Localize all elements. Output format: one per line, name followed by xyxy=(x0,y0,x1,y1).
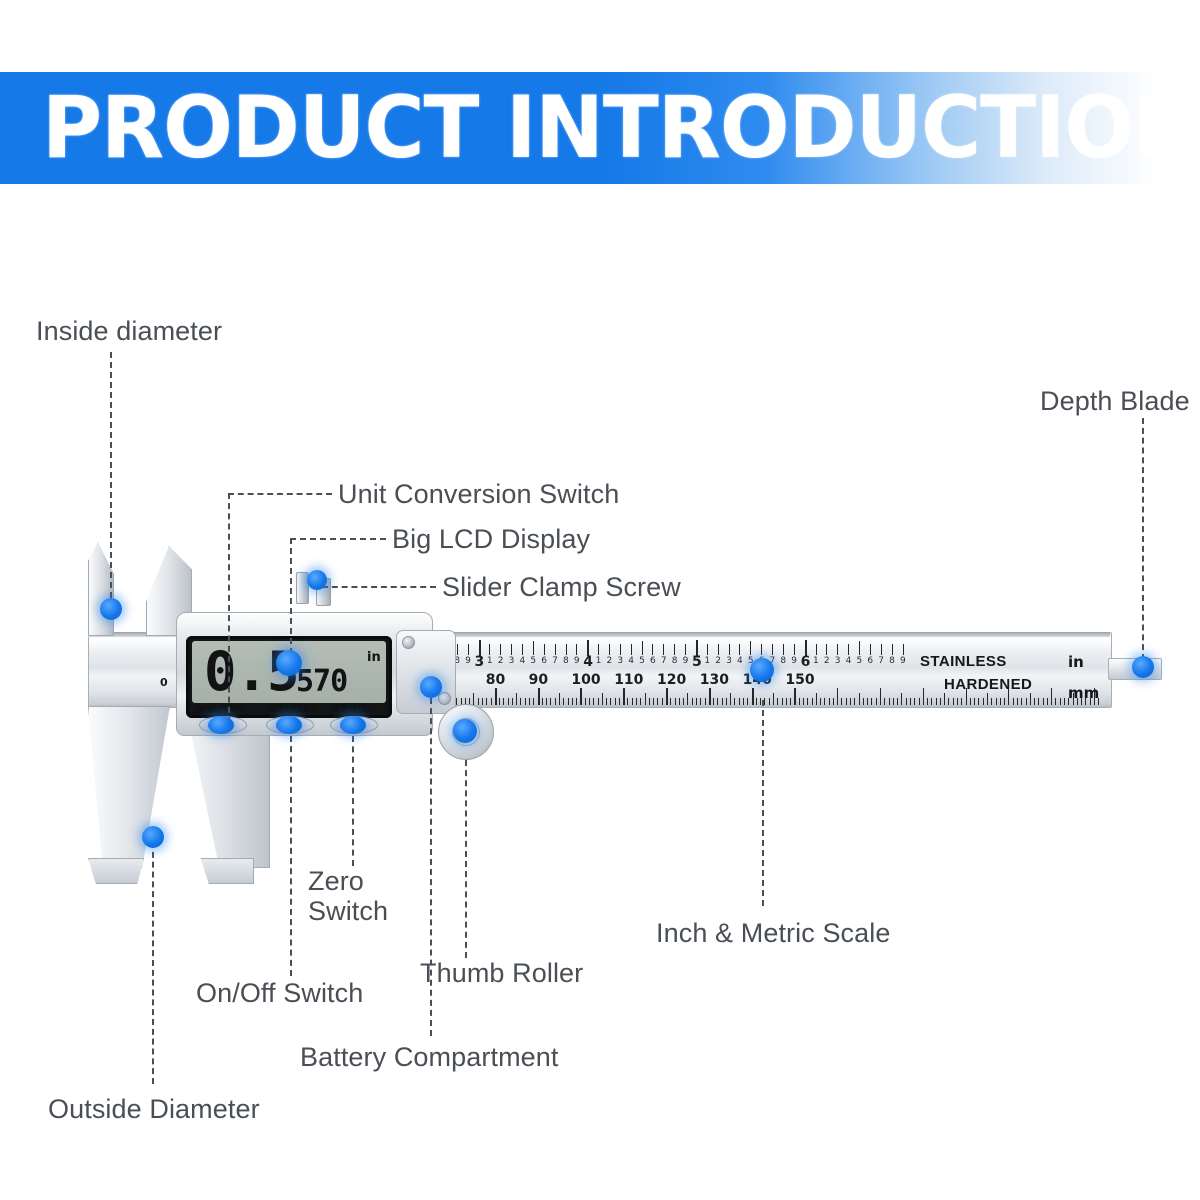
metric-number: 90 xyxy=(529,672,548,688)
metric-tick xyxy=(919,698,920,705)
label-zero-switch-line2: Switch xyxy=(308,896,388,928)
metric-tick xyxy=(520,698,521,705)
metric-tick xyxy=(670,698,671,705)
label-slider-clamp-screw: Slider Clamp Screw xyxy=(442,572,681,604)
metric-tick xyxy=(478,698,479,705)
label-on-off-switch: On/Off Switch xyxy=(196,978,363,1010)
inch-minor-tick xyxy=(468,644,469,655)
metric-tick xyxy=(1030,693,1031,705)
inch-minor-tick xyxy=(707,644,708,655)
metric-tick xyxy=(987,693,988,705)
metric-tick xyxy=(824,698,825,705)
label-inch-metric-scale: Inch & Metric Scale xyxy=(656,918,891,950)
metric-tick xyxy=(555,698,556,705)
metric-tick xyxy=(812,698,813,705)
marker-battery-compartment xyxy=(420,676,442,698)
metric-tick xyxy=(966,688,967,705)
metric-tick xyxy=(944,693,945,705)
inch-subdivision-number: 8 xyxy=(889,656,895,666)
metric-tick xyxy=(559,693,560,705)
metric-tick xyxy=(764,698,765,705)
inch-minor-tick xyxy=(718,644,719,655)
inch-subdivision-number: 3 xyxy=(509,656,515,666)
inch-unit-label: in xyxy=(1068,653,1084,671)
inch-minor-tick xyxy=(903,644,904,655)
inch-subdivision-number: 5 xyxy=(639,656,645,666)
metric-tick xyxy=(696,698,697,705)
inch-minor-tick xyxy=(674,644,675,655)
metric-tick xyxy=(593,698,594,705)
metric-tick xyxy=(970,698,971,705)
metric-tick xyxy=(747,698,748,705)
metric-tick xyxy=(1055,698,1056,705)
sliding-jaw-tip xyxy=(196,858,254,884)
metric-tick xyxy=(978,698,979,705)
metric-tick xyxy=(794,688,795,705)
inch-subdivision-number: 3 xyxy=(835,656,841,666)
metric-tick xyxy=(512,698,513,705)
inch-number: 4 xyxy=(583,654,593,670)
metric-tick xyxy=(482,698,483,705)
metric-tick xyxy=(936,698,937,705)
metric-tick xyxy=(585,698,586,705)
battery-screw-top xyxy=(402,636,415,649)
metric-tick xyxy=(820,698,821,705)
inch-subdivision-number: 8 xyxy=(563,656,569,666)
marker-inside-diameter xyxy=(100,598,122,620)
metric-tick xyxy=(807,698,808,705)
leader-slider-clamp-h xyxy=(322,586,436,588)
inch-subdivision-number: 7 xyxy=(552,656,558,666)
metric-tick xyxy=(687,693,688,705)
inch-minor-tick xyxy=(555,644,556,655)
metric-number: 120 xyxy=(657,672,686,688)
inch-minor-tick xyxy=(533,641,534,655)
inch-minor-tick xyxy=(837,644,838,655)
page-title: PRODUCT INTRODUCTION xyxy=(42,76,1166,180)
metric-tick xyxy=(700,698,701,705)
label-outside-diameter: Outside Diameter xyxy=(48,1094,260,1126)
inch-subdivision-number: 9 xyxy=(683,656,689,666)
metric-tick xyxy=(653,698,654,705)
metric-tick xyxy=(734,698,735,705)
metric-tick xyxy=(1064,698,1065,705)
metric-unit-label: mm xyxy=(1068,684,1099,702)
lcd-sub-value: 570 xyxy=(296,664,347,699)
inch-minor-tick xyxy=(729,644,730,655)
marker-outside-diameter xyxy=(142,826,164,848)
marker-zero xyxy=(340,716,366,734)
metric-tick xyxy=(931,698,932,705)
inch-minor-tick xyxy=(620,644,621,655)
metric-tick xyxy=(1013,698,1014,705)
leader-inch-metric-scale xyxy=(762,700,764,906)
metric-tick xyxy=(568,698,569,705)
inch-minor-tick xyxy=(500,644,501,655)
inch-minor-tick xyxy=(522,644,523,655)
metric-tick xyxy=(1051,688,1052,705)
metric-tick xyxy=(1026,698,1027,705)
metric-tick xyxy=(640,698,641,705)
metric-tick xyxy=(529,698,530,705)
metric-tick xyxy=(910,698,911,705)
metric-tick xyxy=(991,698,992,705)
slider-zero-mark: 0 xyxy=(160,676,168,689)
metric-tick xyxy=(884,698,885,705)
metric-tick xyxy=(773,693,774,705)
metric-tick xyxy=(829,698,830,705)
metric-tick xyxy=(491,698,492,705)
inch-subdivision-number: 4 xyxy=(737,656,743,666)
inch-subdivision-number: 6 xyxy=(650,656,656,666)
leader-unit-conversion-h xyxy=(228,493,332,495)
metric-tick xyxy=(726,698,727,705)
metric-tick xyxy=(645,693,646,705)
metric-tick xyxy=(615,698,616,705)
inch-number: 5 xyxy=(692,654,702,670)
marker-slider-clamp-screw xyxy=(307,570,327,590)
metric-tick xyxy=(627,698,628,705)
metric-tick xyxy=(859,693,860,705)
inch-minor-tick xyxy=(761,644,762,655)
metric-tick xyxy=(996,698,997,705)
inch-minor-tick xyxy=(881,644,882,655)
inch-minor-tick xyxy=(772,644,773,655)
metric-tick xyxy=(679,698,680,705)
metric-tick xyxy=(486,698,487,705)
metric-tick xyxy=(657,698,658,705)
metric-tick xyxy=(837,688,838,705)
inch-minor-tick xyxy=(544,644,545,655)
button-label-on-off: ON/OFF xyxy=(270,702,318,715)
metric-tick xyxy=(867,698,868,705)
engraving-stainless: STAINLESS xyxy=(920,653,1007,670)
inch-minor-tick xyxy=(859,641,860,655)
inch-subdivision-number: 2 xyxy=(715,656,721,666)
leader-zero-switch xyxy=(352,736,354,866)
metric-tick xyxy=(1017,698,1018,705)
inch-subdivision-number: 7 xyxy=(661,656,667,666)
metric-tick xyxy=(901,693,902,705)
inch-minor-tick xyxy=(870,644,871,655)
metric-tick xyxy=(666,688,667,705)
metric-tick xyxy=(974,698,975,705)
inch-minor-tick xyxy=(685,644,686,655)
label-inside-diameter: Inside diameter xyxy=(36,316,222,348)
metric-tick xyxy=(705,698,706,705)
inch-minor-tick xyxy=(750,641,751,655)
metric-tick xyxy=(769,698,770,705)
inch-subdivision-number: 2 xyxy=(606,656,612,666)
metric-tick xyxy=(948,698,949,705)
metric-tick xyxy=(580,688,581,705)
metric-tick xyxy=(610,698,611,705)
marker-on-off xyxy=(276,716,302,734)
inch-minor-tick xyxy=(892,644,893,655)
marker-inch-metric-scale xyxy=(750,658,774,682)
inch-subdivision-number: 7 xyxy=(878,656,884,666)
metric-number: 80 xyxy=(486,672,505,688)
metric-tick xyxy=(906,698,907,705)
metric-tick xyxy=(675,698,676,705)
inch-subdivision-number: 2 xyxy=(824,656,830,666)
metric-tick xyxy=(914,698,915,705)
metric-tick xyxy=(760,698,761,705)
inch-minor-tick xyxy=(457,644,458,655)
metric-tick xyxy=(803,698,804,705)
metric-tick xyxy=(709,688,710,705)
metric-tick xyxy=(756,698,757,705)
metric-tick xyxy=(871,698,872,705)
inch-minor-tick xyxy=(783,644,784,655)
fixed-jaw-tip xyxy=(88,858,144,884)
metric-tick xyxy=(606,698,607,705)
metric-tick xyxy=(854,698,855,705)
metric-tick xyxy=(786,698,787,705)
marker-thumb-roller xyxy=(453,719,477,743)
inch-minor-tick xyxy=(826,644,827,655)
label-unit-conversion-switch: Unit Conversion Switch xyxy=(338,479,619,511)
metric-tick xyxy=(576,698,577,705)
inch-subdivision-number: 4 xyxy=(628,656,634,666)
metric-tick xyxy=(730,693,731,705)
metric-tick xyxy=(1038,698,1039,705)
metric-tick xyxy=(1047,698,1048,705)
inch-subdivision-number: 9 xyxy=(900,656,906,666)
inch-minor-tick xyxy=(576,644,577,655)
metric-tick xyxy=(923,688,924,705)
metric-tick xyxy=(961,698,962,705)
metric-tick xyxy=(683,698,684,705)
leader-big-lcd-v xyxy=(290,538,292,664)
metric-tick xyxy=(649,698,650,705)
metric-tick xyxy=(880,688,881,705)
inch-minor-tick xyxy=(739,644,740,655)
metric-tick xyxy=(893,698,894,705)
metric-tick xyxy=(897,698,898,705)
metric-tick xyxy=(550,698,551,705)
inch-subdivision-number: 2 xyxy=(498,656,504,666)
metric-tick xyxy=(1060,698,1061,705)
metric-tick xyxy=(889,698,890,705)
inch-minor-tick xyxy=(609,644,610,655)
metric-tick xyxy=(1004,698,1005,705)
label-zero-switch-line1: Zero xyxy=(308,866,364,898)
inch-minor-tick xyxy=(631,644,632,655)
metric-tick xyxy=(743,698,744,705)
inch-minor-tick xyxy=(794,644,795,655)
metric-tick xyxy=(692,698,693,705)
inch-number: 6 xyxy=(801,654,811,670)
metric-tick xyxy=(456,698,457,705)
leader-unit-conversion-v xyxy=(228,493,230,723)
metric-tick xyxy=(752,688,753,705)
metric-tick xyxy=(495,688,496,705)
metric-tick xyxy=(782,698,783,705)
marker-unit-conversion xyxy=(208,716,234,734)
metric-tick xyxy=(863,698,864,705)
inch-minor-tick xyxy=(489,644,490,655)
metric-tick xyxy=(790,698,791,705)
label-thumb-roller: Thumb Roller xyxy=(420,958,583,990)
metric-tick xyxy=(953,698,954,705)
metric-tick xyxy=(739,698,740,705)
inch-subdivision-number: 1 xyxy=(813,656,819,666)
inch-subdivision-number: 8 xyxy=(780,656,786,666)
inch-subdivision-number: 1 xyxy=(596,656,602,666)
metric-tick xyxy=(632,698,633,705)
metric-tick xyxy=(722,698,723,705)
metric-tick xyxy=(1043,698,1044,705)
inch-subdivision-number: 1 xyxy=(704,656,710,666)
inch-minor-tick xyxy=(848,644,849,655)
metric-tick xyxy=(533,698,534,705)
inch-subdivision-number: 3 xyxy=(617,656,623,666)
metric-tick xyxy=(572,698,573,705)
metric-tick xyxy=(546,698,547,705)
leader-big-lcd-h xyxy=(290,538,386,540)
marker-big-lcd xyxy=(276,650,302,676)
inch-subdivision-number: 4 xyxy=(520,656,526,666)
metric-tick xyxy=(816,693,817,705)
metric-tick xyxy=(662,698,663,705)
leader-on-off-switch xyxy=(290,736,292,976)
inch-minor-tick xyxy=(566,644,567,655)
metric-tick xyxy=(602,693,603,705)
inch-minor-tick xyxy=(511,644,512,655)
battery-screw-bottom xyxy=(438,692,451,705)
metric-tick xyxy=(473,693,474,705)
lcd-unit-label: in xyxy=(367,650,381,665)
inch-minor-tick xyxy=(642,641,643,655)
inch-subdivision-number: 6 xyxy=(541,656,547,666)
metric-tick xyxy=(833,698,834,705)
inch-subdivision-number: 9 xyxy=(791,656,797,666)
metric-tick xyxy=(525,698,526,705)
inch-subdivision-number: 5 xyxy=(530,656,536,666)
marker-depth-blade xyxy=(1132,656,1154,678)
leader-thumb-roller xyxy=(465,760,467,958)
metric-tick xyxy=(503,698,504,705)
inch-subdivision-number: 4 xyxy=(846,656,852,666)
metric-tick xyxy=(499,698,500,705)
metric-tick xyxy=(623,688,624,705)
metric-tick xyxy=(1021,698,1022,705)
inch-number: 3 xyxy=(475,654,485,670)
metric-tick xyxy=(777,698,778,705)
product-introduction-diagram: PRODUCT INTRODUCTION STAINLESS HARDENED … xyxy=(0,0,1200,1200)
button-label-unit-conversion: mm/in/F xyxy=(196,702,247,715)
inch-subdivision-number: 9 xyxy=(465,656,471,666)
metric-number: 110 xyxy=(614,672,643,688)
metric-tick xyxy=(636,698,637,705)
metric-tick xyxy=(940,698,941,705)
metric-tick xyxy=(1000,698,1001,705)
engraving-hardened: HARDENED xyxy=(944,676,1032,693)
inch-minor-tick xyxy=(598,644,599,655)
inch-subdivision-number: 6 xyxy=(867,656,873,666)
inch-subdivision-number: 8 xyxy=(672,656,678,666)
leader-depth-blade xyxy=(1142,418,1144,660)
inch-subdivision-number: 9 xyxy=(574,656,580,666)
metric-tick xyxy=(983,698,984,705)
metric-tick xyxy=(619,698,620,705)
metric-tick xyxy=(542,698,543,705)
inch-subdivision-number: 5 xyxy=(857,656,863,666)
metric-number: 100 xyxy=(571,672,600,688)
metric-tick xyxy=(598,698,599,705)
metric-tick xyxy=(1034,698,1035,705)
label-battery-compartment: Battery Compartment xyxy=(300,1042,559,1074)
metric-tick xyxy=(713,698,714,705)
metric-tick xyxy=(589,698,590,705)
metric-tick xyxy=(538,688,539,705)
metric-tick xyxy=(876,698,877,705)
leader-outside-diameter xyxy=(152,842,154,1084)
metric-tick xyxy=(516,693,517,705)
leader-inside-diameter xyxy=(110,352,112,608)
metric-number: 150 xyxy=(785,672,814,688)
button-label-zero: ZERO xyxy=(333,702,367,715)
metric-tick xyxy=(957,698,958,705)
metric-tick xyxy=(1008,688,1009,705)
metric-tick xyxy=(799,698,800,705)
metric-tick xyxy=(850,698,851,705)
metric-tick xyxy=(508,698,509,705)
inch-subdivision-number: 1 xyxy=(487,656,493,666)
metric-tick xyxy=(563,698,564,705)
inch-subdivision-number: 3 xyxy=(726,656,732,666)
metric-tick xyxy=(717,698,718,705)
metric-tick xyxy=(846,698,847,705)
metric-tick xyxy=(841,698,842,705)
metric-tick xyxy=(927,698,928,705)
inch-minor-tick xyxy=(663,644,664,655)
inch-minor-tick xyxy=(816,644,817,655)
metric-number: 130 xyxy=(700,672,729,688)
label-depth-blade: Depth Blade xyxy=(1040,386,1190,418)
inch-minor-tick xyxy=(652,644,653,655)
label-big-lcd-display: Big LCD Display xyxy=(392,524,590,556)
